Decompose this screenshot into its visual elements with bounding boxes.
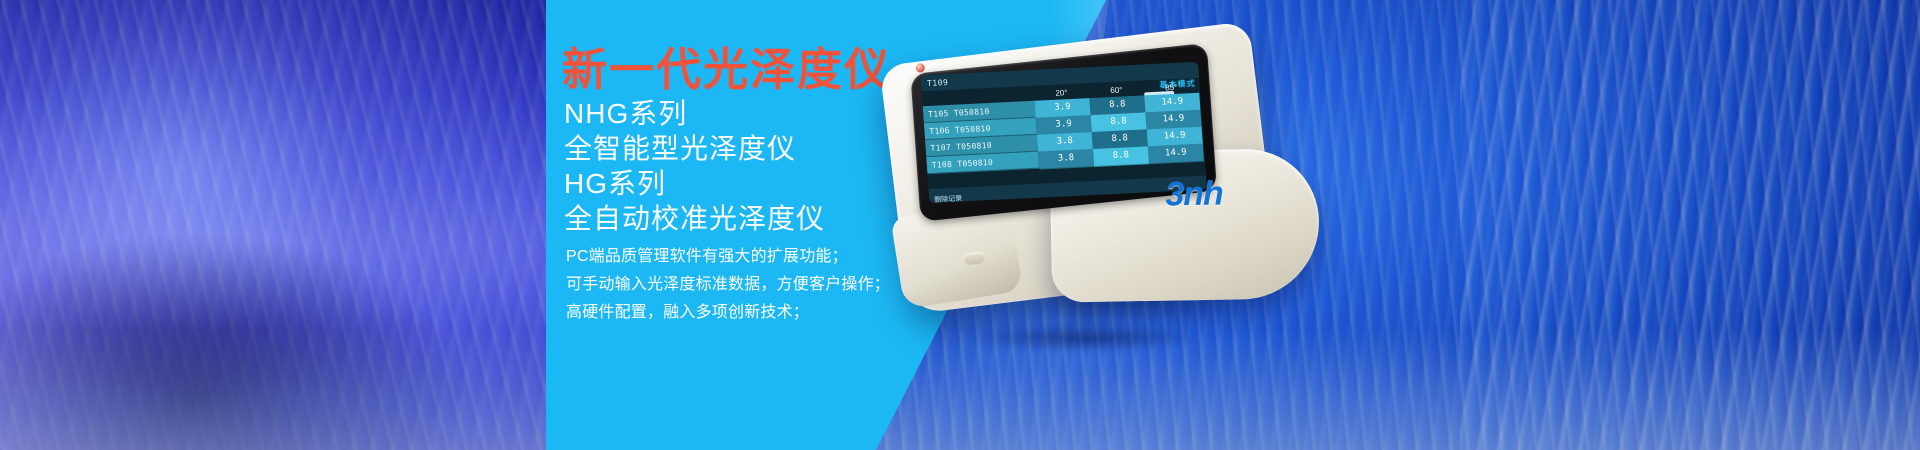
device-body: T109 基本模式 10:51 2019 05 08 20° 60° 85° — [879, 20, 1296, 394]
row-value-85deg: 14.9 — [1148, 143, 1204, 164]
measurement-table: 20° 60° 85° T105 T050810 3.9 8.8 14.9 T1… — [922, 80, 1205, 174]
row-value-20deg: 3.8 — [1038, 149, 1094, 170]
screen-sample-label: T109 — [921, 77, 949, 87]
row-value-60deg: 8.8 — [1093, 146, 1149, 167]
brand-logo: 3nh — [1165, 174, 1223, 214]
device-screen: T109 基本模式 10:51 2019 05 08 20° 60° 85° — [920, 62, 1206, 203]
page-title: 新一代光泽度仪 — [562, 46, 891, 93]
delete-record-button[interactable]: 删除记录 — [929, 195, 962, 203]
promo-banner: 新一代光泽度仪 NHG系列 全智能型光泽度仪 HG系列 全自动校准光泽度仪 PC… — [0, 0, 1920, 450]
column-header-name — [922, 94, 1034, 99]
gloss-meter-device: T109 基本模式 10:51 2019 05 08 20° 60° 85° — [880, 18, 1300, 438]
